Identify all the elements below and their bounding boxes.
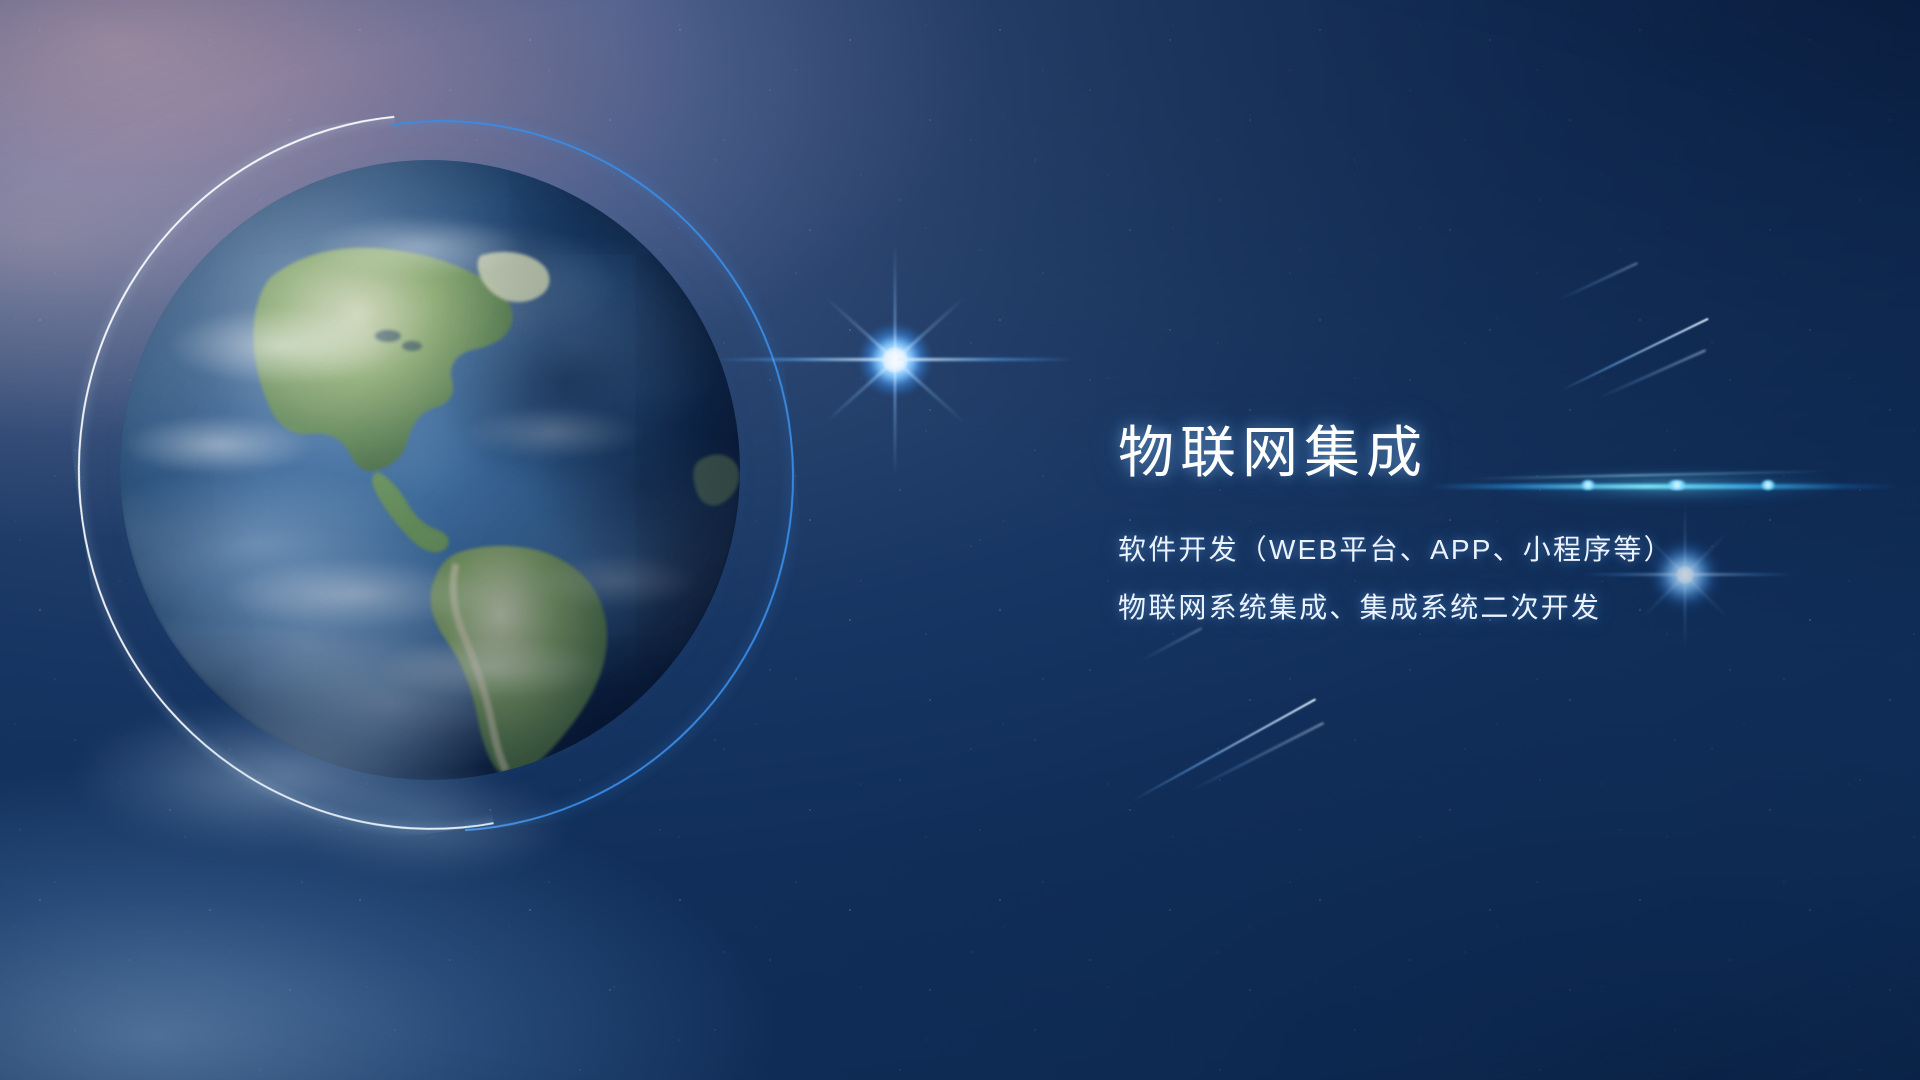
globe-cloud-reflection [60, 690, 620, 930]
hero-subtitle-line-1: 软件开发（WEB平台、APP、小程序等） [1118, 536, 1674, 564]
lens-flare-star [790, 255, 1000, 465]
hero-banner: 物联网集成 软件开发（WEB平台、APP、小程序等） 物联网系统集成、集成系统二… [0, 0, 1920, 1080]
meteor-streak [1140, 627, 1203, 661]
meteor-streak [1132, 698, 1317, 802]
hero-text-block: 物联网集成 软件开发（WEB平台、APP、小程序等） 物联网系统集成、集成系统二… [1118, 425, 1674, 622]
meteor-streak [1556, 262, 1638, 301]
meteor-streak [1596, 349, 1706, 399]
hero-subtitle-line-2: 物联网系统集成、集成系统二次开发 [1118, 594, 1674, 622]
earth-globe-americas [120, 160, 740, 780]
page-title: 物联网集成 [1118, 425, 1674, 481]
